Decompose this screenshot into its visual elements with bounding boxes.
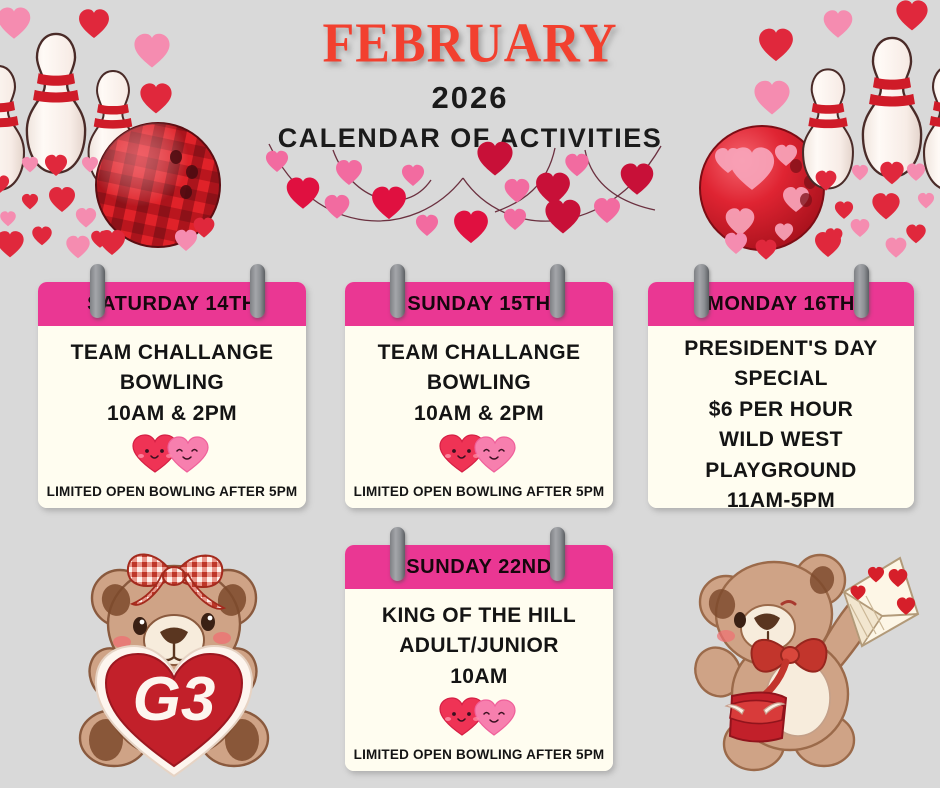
heart-garland-decoration bbox=[255, 140, 675, 248]
binder-ring bbox=[390, 264, 405, 318]
event-card-line: BOWLING bbox=[120, 368, 224, 398]
event-card-line: 10AM & 2PM bbox=[414, 399, 544, 429]
satchel-icon bbox=[726, 692, 786, 741]
event-card[interactable]: SUNDAY 22ND KING OF THE HILL ADULT/JUNIO… bbox=[345, 545, 613, 771]
event-card-day: SUNDAY 22ND bbox=[345, 545, 613, 589]
event-card-line: TEAM CHALLANGE bbox=[378, 338, 581, 368]
calendar-poster: FEBRUARY 2026 CALENDAR OF ACTIVITIES bbox=[0, 0, 940, 788]
binder-ring bbox=[390, 527, 405, 581]
event-card-line: ADULT/JUNIOR bbox=[399, 631, 559, 661]
event-card-line: 10AM & 2PM bbox=[107, 399, 237, 429]
event-card-line: TEAM CHALLANGE bbox=[71, 338, 274, 368]
bowling-pins-with-plaid-ball-decoration bbox=[0, 0, 240, 262]
event-card-line: WILD WEST bbox=[719, 425, 843, 455]
binder-ring bbox=[854, 264, 869, 318]
event-card-footer: LIMITED OPEN BOWLING AFTER 5PM bbox=[38, 484, 306, 508]
g3-logo-text: G3 bbox=[133, 665, 216, 734]
event-card-line: 11AM-5PM bbox=[727, 486, 835, 508]
kawaii-heart-pair-icon bbox=[438, 697, 520, 737]
event-card-line: 10AM bbox=[450, 662, 508, 692]
event-card[interactable]: SATURDAY 14TH TEAM CHALLANGE BOWLING 10A… bbox=[38, 282, 306, 508]
kawaii-heart-pair-icon bbox=[438, 434, 520, 474]
binder-ring bbox=[694, 264, 709, 318]
bowling-pins-with-red-ball-decoration bbox=[700, 0, 940, 262]
event-card-footer: LIMITED OPEN BOWLING AFTER 5PM bbox=[345, 484, 613, 508]
kawaii-heart-pair-icon bbox=[131, 434, 213, 474]
event-card-line: $6 PER HOUR bbox=[709, 395, 853, 425]
teddy-bear-with-g3-heart-decoration: G3 bbox=[62, 542, 302, 788]
event-card-line: SPECIAL bbox=[734, 364, 828, 394]
event-card-day: SUNDAY 15TH bbox=[345, 282, 613, 326]
event-card-line: PRESIDENT'S DAY bbox=[684, 334, 877, 364]
teddy-bear-with-love-letter-decoration bbox=[682, 542, 922, 788]
event-card[interactable]: MONDAY 16TH PRESIDENT'S DAY SPECIAL $6 P… bbox=[648, 282, 914, 508]
event-card-line: BOWLING bbox=[427, 368, 531, 398]
binder-ring bbox=[550, 264, 565, 318]
event-card[interactable]: SUNDAY 15TH TEAM CHALLANGE BOWLING 10AM … bbox=[345, 282, 613, 508]
binder-ring bbox=[90, 264, 105, 318]
event-card-line: PLAYGROUND bbox=[705, 456, 856, 486]
event-card-line: KING OF THE HILL bbox=[382, 601, 576, 631]
event-card-day: MONDAY 16TH bbox=[648, 282, 914, 326]
event-card-day: SATURDAY 14TH bbox=[38, 282, 306, 326]
event-card-footer: LIMITED OPEN BOWLING AFTER 5PM bbox=[345, 747, 613, 771]
binder-ring bbox=[250, 264, 265, 318]
binder-ring bbox=[550, 527, 565, 581]
